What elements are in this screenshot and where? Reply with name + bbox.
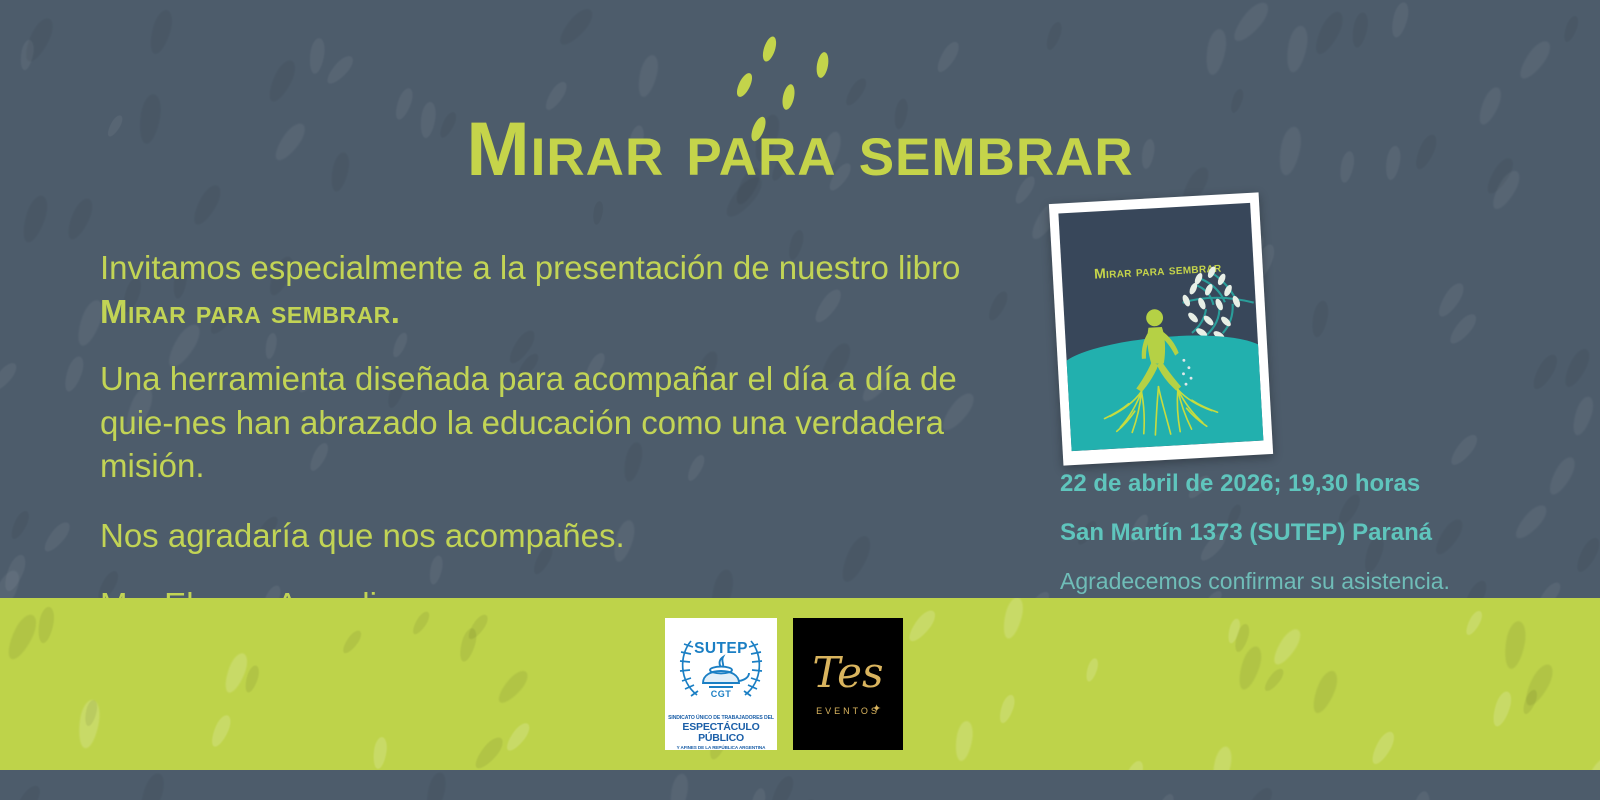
leaf-shape [221,651,251,696]
leaf-shape [635,53,662,99]
leaf-shape [1434,280,1468,320]
leaf-shape [1560,346,1593,391]
leaf-shape [1545,454,1579,498]
paragraph-invitation: Invitamos especialmente a la presentació… [100,246,1020,333]
leaf-shape [1119,759,1146,770]
leaf-shape [1529,351,1562,392]
leaf-shape [471,734,507,770]
leaf-shape [0,360,20,395]
event-venue: San Martín 1373 (SUTEP) Paraná [1060,519,1520,547]
leaf-shape [905,607,939,645]
leaf-shape [1410,790,1432,800]
leaf-shape [1000,598,1026,640]
leaf-shape [372,736,389,769]
leaf-shape [1368,729,1398,767]
leaf-shape [1235,644,1266,692]
leaf-shape [76,698,102,749]
leaf-shape [8,509,32,542]
leaf-shape [953,720,975,762]
leaf-shape [997,693,1017,725]
leaf-shape [189,182,225,229]
leaf-shape [264,57,299,105]
leaf-shape [503,720,533,754]
leaf-shape [1502,620,1529,671]
leaf-shape [1229,88,1246,115]
leaf-shape [1240,784,1277,800]
leaf-shape [36,606,56,645]
leaf-shape [1350,11,1370,49]
bottom-leaf-pattern [0,770,1600,800]
leaf-shape [323,52,356,87]
tes-wordmark: Tes [793,652,903,694]
cgt-wordmark: CGT [665,689,777,699]
leaf-shape [1578,753,1600,770]
leaf-shape [790,796,817,800]
leaf-shape [10,782,44,800]
leaf-shape [1561,14,1580,43]
sutep-caption-line-2: ESPECTÁCULO PÚBLICO [665,722,777,746]
leaf-shape [1309,299,1330,338]
leaf-shape [19,193,52,245]
event-datetime: 22 de abril de 2026; 19,30 horas [1060,470,1520,498]
bottom-strip [0,770,1600,800]
tes-tagline: EVENTOS [793,706,903,716]
leaf-shape [63,195,96,242]
sutep-wordmark: SUTEP [665,640,777,658]
leaf-shape [1569,394,1596,437]
seed-shape [760,35,778,63]
leaf-shape [146,8,175,56]
leaf-shape [1262,666,1287,694]
seed-shape [815,51,830,79]
leaf-shape [308,37,327,75]
seed-shape [734,71,755,99]
book-cover-artwork: Mirar para sembrar [1058,203,1263,451]
leaf-shape [767,773,798,800]
leaf-shape [1463,609,1485,637]
paragraph-request: Nos agradaría que nos acompañes. [100,514,1020,558]
sutep-logo: SUTEP CGT SINDICATO ÚNICO DE TRABAJADORE… [665,618,777,750]
invitation-lead-text: Invitamos especialmente a la presentació… [100,249,960,286]
leaf-shape [243,664,262,694]
leaf-shape [423,771,448,800]
leaf-shape [1,552,29,593]
book-cover-photo: Mirar para sembrar [1049,192,1273,465]
leaf-shape [1308,668,1341,716]
leaf-shape [340,628,364,656]
leaf-shape [1446,311,1480,348]
leaf-shape [465,612,491,642]
leaf-shape [1310,8,1347,58]
rsvp-note: Agradecemos confirmar su asistencia. [1060,568,1520,595]
paragraph-description: Una herramienta diseñada para acompañar … [100,357,1020,488]
leaf-shape [1447,431,1481,469]
leaf-shape [1389,1,1411,39]
leaf-shape [1153,792,1177,800]
leaf-shape [1521,661,1558,709]
leaf-shape [592,201,605,226]
leaf-shape [748,787,767,800]
leaf-shape [668,772,691,800]
event-details: 22 de abril de 2026; 19,30 horas San Mar… [1060,470,1520,595]
invitation-body: Invitamos especialmente a la presentació… [100,246,1020,653]
leaf-shape [3,611,41,663]
leaf-shape [1515,37,1555,83]
leaf-shape [1084,657,1100,683]
page-title: Mirar para sembrar [0,112,1600,188]
leaf-shape [1210,745,1235,770]
leaf-shape [1232,622,1251,653]
tes-eventos-logo: Tes EVENTOS ✦ [793,618,903,750]
leaf-shape [457,627,479,664]
leaf-shape [1229,0,1274,46]
leaf-shape [83,699,99,727]
leaf-shape [494,667,532,707]
leaf-shape [410,609,432,636]
leaf-shape [40,519,73,555]
sutep-caption-line-3: Y AFINES DE LA REPÚBLICA ARGENTINA [665,745,777,750]
book-title-inline: Mirar para sembrar. [100,290,1020,334]
leaf-shape [61,354,86,393]
leaf-shape [1203,28,1229,77]
sutep-caption: SINDICATO ÚNICO DE TRABAJADORES DEL ESPE… [665,716,777,750]
leaf-shape [1044,20,1065,52]
leaf-shape [1573,535,1600,575]
invitation-poster: Mirar para sembrar Invitamos especialmen… [0,0,1600,800]
leaf-shape [136,771,168,800]
leaf-shape [1269,626,1304,669]
leaf-shape [1226,618,1242,645]
leaf-shape [1490,690,1515,729]
leaf-shape [208,713,234,749]
leaf-shape [933,39,962,75]
leaf-shape [555,4,597,49]
leaf-shape [18,39,35,71]
sparkle-icon: ✦ [872,702,881,715]
leaf-shape [20,15,57,65]
photo-frame: Mirar para sembrar [1049,192,1273,465]
cover-sower-illustration [1058,203,1263,451]
sutep-lamp-icon: SUTEP CGT [665,623,777,715]
leaf-shape [1520,688,1539,716]
leaf-shape [1283,24,1310,74]
